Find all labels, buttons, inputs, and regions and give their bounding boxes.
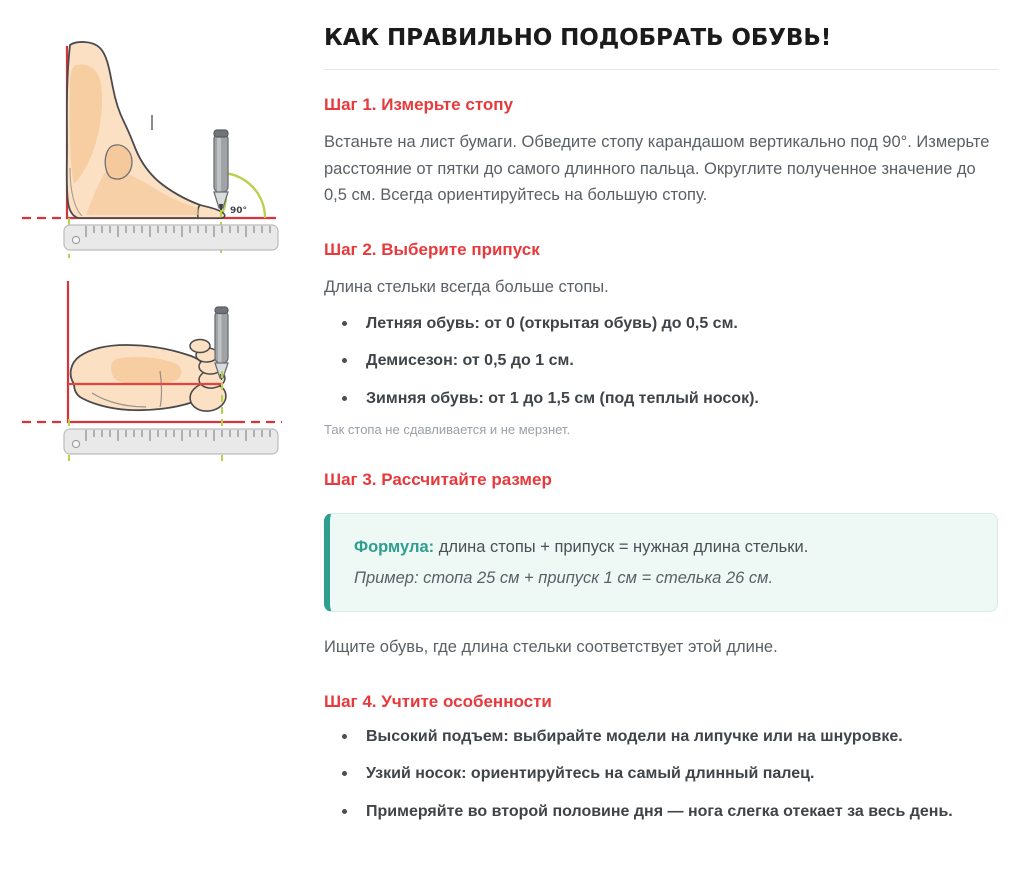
bullet-dot-icon xyxy=(342,734,347,739)
bullet-dot-icon xyxy=(342,396,347,401)
shoe-size-guide-page: 90° 90° xyxy=(0,0,1024,873)
bullet-dot-icon xyxy=(342,771,347,776)
ruler xyxy=(64,225,278,250)
step-4-bullet-list: Высокий подъем: выбирайте модели на липу… xyxy=(324,726,998,823)
angle-label: 90° xyxy=(230,206,247,216)
pencil-icon xyxy=(215,307,228,380)
step-2-paragraph: Длина стельки всегда больше стопы. xyxy=(324,274,998,301)
foot-silhouette-top xyxy=(71,340,228,414)
list-item-label: Летняя обувь: от 0 (открытая обувь) до 0… xyxy=(366,315,738,332)
formula-callout: Формула: длина стопы + припуск = нужная … xyxy=(324,513,998,612)
foot-side-view-figure: 90° 90° xyxy=(12,18,312,263)
illustration-column: 90° 90° xyxy=(0,0,320,873)
step-1-paragraph: Встаньте на лист бумаги. Обведите стопу … xyxy=(324,129,998,209)
bullet-dot-icon xyxy=(342,809,347,814)
ruler xyxy=(64,429,278,454)
step-2-heading: Шаг 2. Выберите припуск xyxy=(324,239,998,261)
formula-line: Формула: длина стопы + припуск = нужная … xyxy=(354,534,975,560)
list-item: Примеряйте во второй половине дня — нога… xyxy=(324,801,998,823)
list-item-label: Демисезон: от 0,5 до 1 см. xyxy=(366,352,574,369)
bullet-dot-icon xyxy=(342,321,347,326)
toe-5 xyxy=(190,340,210,353)
page-title: КАК ПРАВИЛЬНО ПОДОБРАТЬ ОБУВЬ! xyxy=(324,24,998,53)
step-4-heading: Шаг 4. Учтите особенности xyxy=(324,691,998,713)
title-divider xyxy=(324,69,998,70)
foot-silhouette xyxy=(67,42,225,218)
list-item: Высокий подъем: выбирайте модели на липу… xyxy=(324,726,998,748)
formula-label: Формула: xyxy=(354,538,434,556)
formula-example: Пример: стопа 25 см + припуск 1 см = сте… xyxy=(354,565,975,591)
list-item-label: Узкий носок: ориентируйтесь на самый дли… xyxy=(366,765,814,782)
list-item: Летняя обувь: от 0 (открытая обувь) до 0… xyxy=(324,313,998,335)
step-3-heading: Шаг 3. Рассчитайте размер xyxy=(324,469,998,491)
list-item-label: Зимняя обувь: от 1 до 1,5 см (под теплый… xyxy=(366,390,759,407)
list-item: Зимняя обувь: от 1 до 1,5 см (под теплый… xyxy=(324,388,998,410)
step-3-after-text: Ищите обувь, где длина стельки соответст… xyxy=(324,634,998,661)
foot-top-view-figure xyxy=(12,271,312,466)
list-item-label: Примеряйте во второй половине дня — нога… xyxy=(366,803,953,820)
content-column: КАК ПРАВИЛЬНО ПОДОБРАТЬ ОБУВЬ! Шаг 1. Из… xyxy=(320,0,1024,873)
step-2-bullet-list: Летняя обувь: от 0 (открытая обувь) до 0… xyxy=(324,313,998,410)
step-1-heading: Шаг 1. Измерьте стопу xyxy=(324,94,998,116)
list-item: Демисезон: от 0,5 до 1 см. xyxy=(324,350,998,372)
step-2-caption: Так стопа не сдавливается и не мерзнет. xyxy=(324,420,998,440)
formula-text: длина стопы + припуск = нужная длина сте… xyxy=(434,538,808,556)
list-item-label: Высокий подъем: выбирайте модели на липу… xyxy=(366,728,903,745)
pencil-icon xyxy=(214,130,228,210)
bullet-dot-icon xyxy=(342,358,347,363)
list-item: Узкий носок: ориентируйтесь на самый дли… xyxy=(324,763,998,785)
